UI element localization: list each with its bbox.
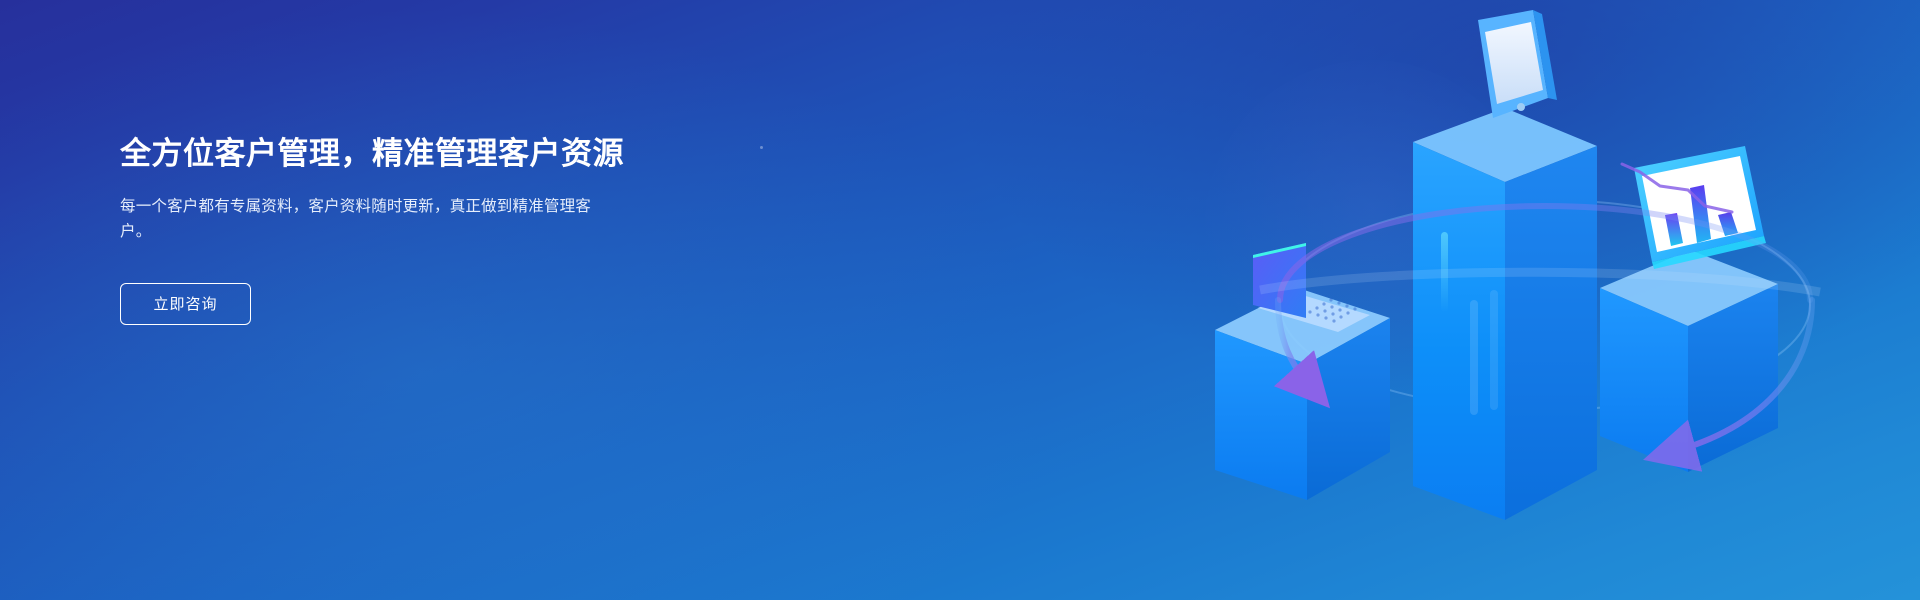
hero-illustration xyxy=(1160,0,1920,600)
right-pillar-group xyxy=(1600,146,1778,472)
consult-now-button[interactable]: 立即咨询 xyxy=(120,283,251,325)
page-title: 全方位客户管理，精准管理客户资源 xyxy=(120,135,740,174)
hero-banner: 全方位客户管理，精准管理客户资源 每一个客户都有专属资料，客户资料随时更新，真正… xyxy=(0,0,1920,600)
background-speck xyxy=(760,146,763,149)
hero-copy-block: 全方位客户管理，精准管理客户资源 每一个客户都有专属资料，客户资料随时更新，真正… xyxy=(120,135,740,325)
center-pillar-group xyxy=(1413,10,1597,520)
hero-subtitle: 每一个客户都有专属资料，客户资料随时更新，真正做到精准管理客户。 xyxy=(120,194,605,245)
